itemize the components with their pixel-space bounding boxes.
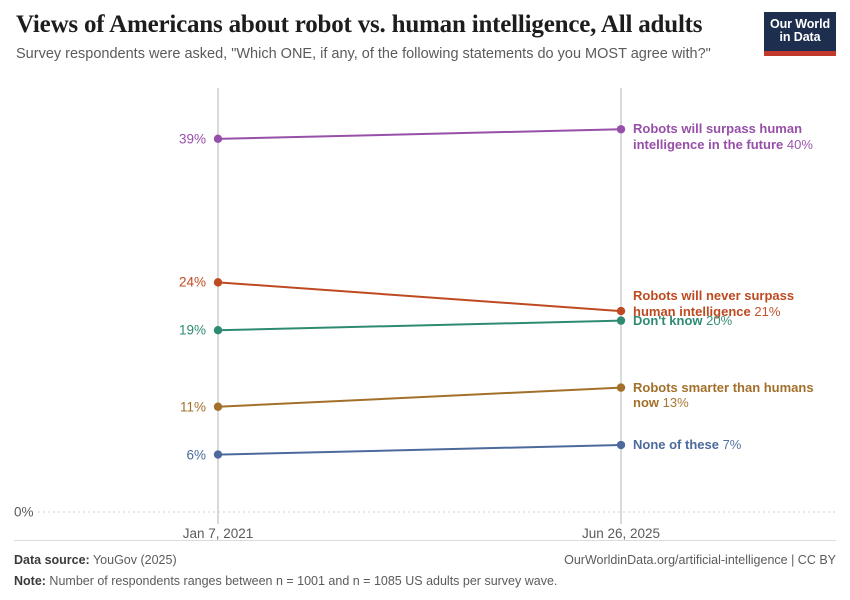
series-label-value: 13%: [663, 395, 689, 410]
series-label-value: 7%: [723, 437, 742, 452]
start-value-label: 24%: [140, 275, 206, 290]
start-value-label: 6%: [140, 447, 206, 462]
series-label-value: 40%: [787, 137, 813, 152]
start-value-label: 19%: [140, 323, 206, 338]
zero-axis-label: 0%: [14, 505, 34, 520]
series-label-name: Robots smarter than humans now: [633, 380, 814, 411]
owid-logo-line1: Our World: [770, 18, 830, 32]
series-point-start[interactable]: [214, 403, 222, 411]
data-source: Data source: YouGov (2025): [14, 552, 177, 568]
series-label[interactable]: Don't know 20%: [633, 313, 833, 329]
series-point-end[interactable]: [617, 307, 625, 315]
series-point-end[interactable]: [617, 316, 625, 324]
chart-note: Note: Number of respondents ranges betwe…: [14, 573, 557, 589]
series-line[interactable]: [218, 388, 621, 407]
series-line[interactable]: [218, 445, 621, 455]
series-label[interactable]: None of these 7%: [633, 437, 833, 453]
series-label[interactable]: Robots will surpass human intelligence i…: [633, 121, 833, 152]
owid-logo-line2: in Data: [780, 31, 821, 45]
series-label-name: Don't know: [633, 313, 706, 328]
series-label-name: None of these: [633, 437, 723, 452]
series-point-end[interactable]: [617, 441, 625, 449]
series-point-end[interactable]: [617, 383, 625, 391]
chart-footer: Data source: YouGov (2025) OurWorldinDat…: [0, 540, 850, 600]
footer-divider: [14, 540, 836, 541]
series-line[interactable]: [218, 282, 621, 311]
page-title: Views of Americans about robot vs. human…: [16, 10, 756, 40]
series-point-start[interactable]: [214, 450, 222, 458]
start-value-label: 39%: [140, 131, 206, 146]
series-point-start[interactable]: [214, 135, 222, 143]
series-point-start[interactable]: [214, 326, 222, 334]
series-point-end[interactable]: [617, 125, 625, 133]
series-line[interactable]: [218, 129, 621, 139]
owid-logo[interactable]: Our World in Data: [764, 12, 836, 56]
slope-chart-plot-area: 39%Robots will surpass human intelligenc…: [0, 74, 850, 532]
series-point-start[interactable]: [214, 278, 222, 286]
data-source-label: Data source:: [14, 553, 90, 567]
series-label-value: 20%: [706, 313, 732, 328]
chart-subtitle: Survey respondents were asked, "Which ON…: [16, 45, 776, 64]
chart-note-value: Number of respondents ranges between n =…: [46, 574, 557, 588]
chart-note-label: Note:: [14, 574, 46, 588]
chart-header: Views of Americans about robot vs. human…: [0, 0, 850, 74]
start-value-label: 11%: [140, 399, 206, 414]
data-source-value: YouGov (2025): [90, 553, 177, 567]
series-line[interactable]: [218, 321, 621, 331]
series-label[interactable]: Robots smarter than humans now 13%: [633, 380, 833, 411]
series-label-name: Robots will surpass human intelligence i…: [633, 121, 802, 152]
owid-link[interactable]: OurWorldinData.org/artificial-intelligen…: [564, 552, 836, 568]
